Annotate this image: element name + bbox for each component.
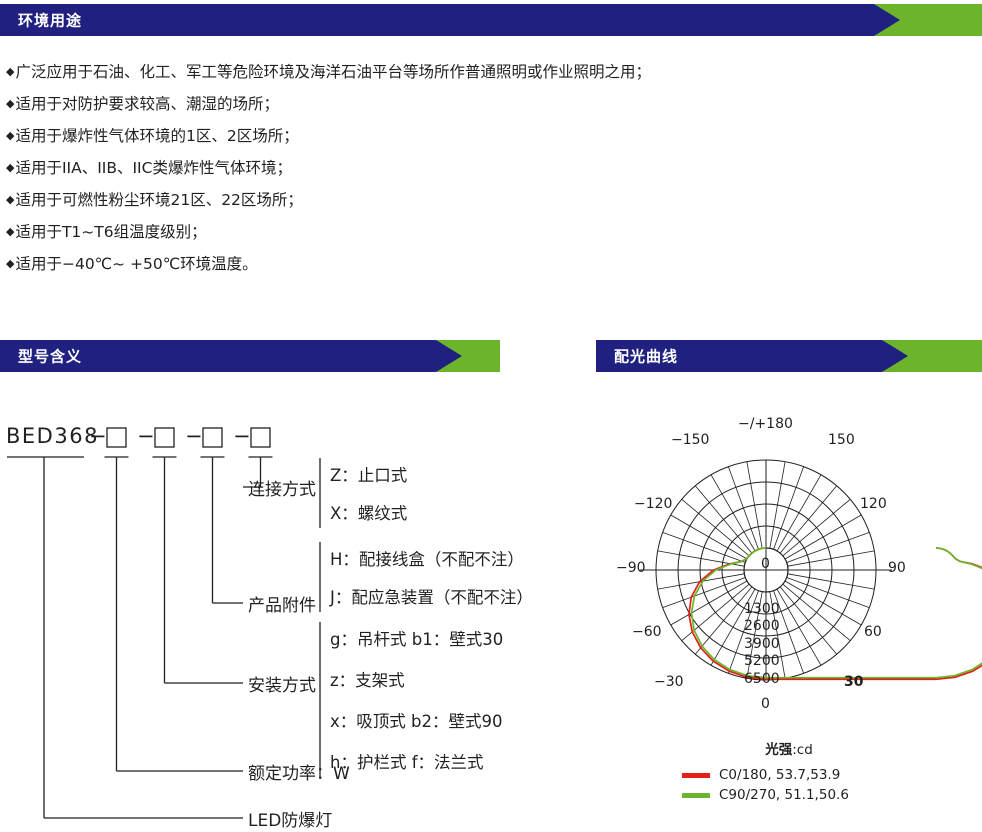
bullet-item: ◆适用于IIA、IIB、IIC类爆炸性气体环境；: [6, 152, 966, 184]
model-group-label: 产品附件: [248, 591, 316, 616]
model-code-separator: −: [233, 424, 252, 448]
section-header-environment: 环境用途: [0, 4, 982, 36]
polar-grid-spoke: [663, 532, 746, 562]
polar-angle-label-neg60: −60: [632, 624, 662, 640]
polar-angle-label-180: −/+180: [738, 416, 793, 432]
polar-grid-spoke: [787, 532, 870, 562]
polar-radial-tick-6500: 6500: [744, 671, 780, 687]
polar-angle-label-120: 120: [860, 496, 887, 512]
model-code-separator: −: [137, 424, 156, 448]
polar-angle-label-30: 30: [844, 674, 863, 690]
legend-entry: C90/270, 51.1,50.6: [596, 785, 982, 805]
polar-angle-label-150: 150: [828, 432, 855, 448]
legend-entry-label: C90/270, 51.1,50.6: [719, 785, 849, 805]
diamond-bullet-icon: ◆: [6, 56, 14, 88]
polar-radial-tick-1300: 1300: [744, 601, 780, 617]
diamond-bullet-icon: ◆: [6, 120, 14, 152]
polar-angle-label-neg90: −90: [616, 560, 646, 576]
model-option: z：支架式: [330, 667, 405, 691]
section-header-model: 型号含义: [0, 340, 500, 372]
legend-color-swatch: [682, 773, 710, 778]
bullet-text: 适用于可燃性粉尘环境21区、22区场所；: [15, 184, 302, 216]
model-code-box: [155, 428, 174, 447]
bullet-text: 适用于−40℃~ +50℃环境温度。: [15, 248, 257, 280]
environment-bullet-list: ◆广泛应用于石油、化工、军工等危险环境及海洋石油平台等场所作普通照明或作业照明之…: [6, 56, 966, 280]
model-group-label: 连接方式: [248, 475, 316, 500]
polar-grid-spoke: [728, 467, 758, 550]
photometric-legend: 光强:cd C0/180, 53.7,53.9C90/270, 51.1,50.…: [596, 738, 982, 805]
model-group-label: 安装方式: [248, 671, 316, 696]
polar-angle-label-neg150: −150: [671, 432, 709, 448]
bullet-text: 适用于对防护要求较高、潮湿的场所；: [15, 88, 279, 120]
model-code-separator: −: [185, 424, 204, 448]
polar-radial-tick-3900: 3900: [744, 636, 780, 652]
bullet-text: 适用于爆炸性气体环境的1区、2区场所；: [15, 120, 298, 152]
diamond-bullet-icon: ◆: [6, 88, 14, 120]
polar-angle-label-0-bottom: 0: [761, 696, 770, 712]
model-code-box: [107, 428, 126, 447]
diamond-bullet-icon: ◆: [6, 248, 14, 280]
section-header-photometric: 配光曲线: [596, 340, 982, 372]
polar-radial-tick-0: 0: [761, 556, 770, 572]
model-code-diagram: BED368−−−−连接方式产品附件安装方式Z：止口式X：螺纹式H：配接线盒（不…: [0, 400, 580, 832]
polar-radial-tick-5200: 5200: [744, 653, 780, 669]
bullet-item: ◆适用于爆炸性气体环境的1区、2区场所；: [6, 120, 966, 152]
model-option: h：护栏式 f：法兰式: [330, 749, 484, 773]
model-option: X：螺纹式: [330, 500, 407, 524]
bullet-item: ◆适用于对防护要求较高、潮湿的场所；: [6, 88, 966, 120]
model-code-prefix: BED368: [6, 424, 99, 448]
polar-grid-spoke: [788, 551, 875, 566]
polar-angle-label-90: 90: [888, 560, 906, 576]
polar-grid-spoke: [747, 462, 762, 549]
diamond-bullet-icon: ◆: [6, 216, 14, 248]
polar-angle-label-neg30: −30: [654, 674, 684, 690]
polar-angle-label-neg120: −120: [634, 496, 672, 512]
legend-entry-label: C0/180, 53.7,53.9: [719, 765, 840, 785]
bullet-text: 广泛应用于石油、化工、军工等危险环境及海洋石油平台等场所作普通照明或作业照明之用…: [15, 56, 651, 88]
legend-entry: C0/180, 53.7,53.9: [596, 765, 982, 785]
polar-grid-spoke: [774, 467, 804, 550]
model-code-separator: −: [89, 424, 108, 448]
section-title-photometric: 配光曲线: [614, 346, 678, 367]
model-code-box: [203, 428, 222, 447]
polar-curve-C90-270: [691, 548, 982, 678]
legend-unit-rest: :cd: [792, 742, 813, 758]
polar-grid-spoke: [788, 574, 875, 589]
bullet-item: ◆适用于可燃性粉尘环境21区、22区场所；: [6, 184, 966, 216]
header-blue-bar: [0, 4, 900, 36]
polar-curve-C0-180: [689, 548, 982, 679]
model-option: H：配接线盒（不配不注）: [330, 546, 524, 570]
polar-grid-spoke: [770, 462, 785, 549]
legend-unit-bold: 光强: [765, 742, 792, 758]
polar-angle-label-60: 60: [864, 624, 882, 640]
photometric-chart: 光强:cd C0/180, 53.7,53.9C90/270, 51.1,50.…: [596, 398, 982, 832]
bullet-text: 适用于IIA、IIB、IIC类爆炸性气体环境；: [15, 152, 292, 184]
bullet-text: 适用于T1~T6组温度级别；: [15, 216, 206, 248]
model-option: J：配应急装置（不配不注）: [330, 584, 533, 608]
bullet-item: ◆广泛应用于石油、化工、军工等危险环境及海洋石油平台等场所作普通照明或作业照明之…: [6, 56, 966, 88]
polar-grid-spoke: [663, 578, 746, 608]
diamond-bullet-icon: ◆: [6, 152, 14, 184]
model-plain-label: 额定功率：W: [248, 759, 350, 784]
section-title-model: 型号含义: [18, 346, 82, 367]
model-option: Z：止口式: [330, 462, 407, 486]
diamond-bullet-icon: ◆: [6, 184, 14, 216]
polar-radial-tick-2600: 2600: [744, 618, 780, 634]
model-plain-label: LED防爆灯: [248, 806, 332, 831]
model-code-box: [251, 428, 270, 447]
legend-color-swatch: [682, 793, 710, 798]
bullet-item: ◆适用于T1~T6组温度级别；: [6, 216, 966, 248]
section-title-environment: 环境用途: [18, 10, 82, 31]
bullet-item: ◆适用于−40℃~ +50℃环境温度。: [6, 248, 966, 280]
polar-grid-spoke: [787, 578, 870, 608]
model-option: g：吊杆式 b1：壁式30: [330, 626, 503, 650]
model-option: x：吸顶式 b2：壁式90: [330, 708, 502, 732]
legend-unit-label: 光强:cd: [596, 738, 982, 758]
